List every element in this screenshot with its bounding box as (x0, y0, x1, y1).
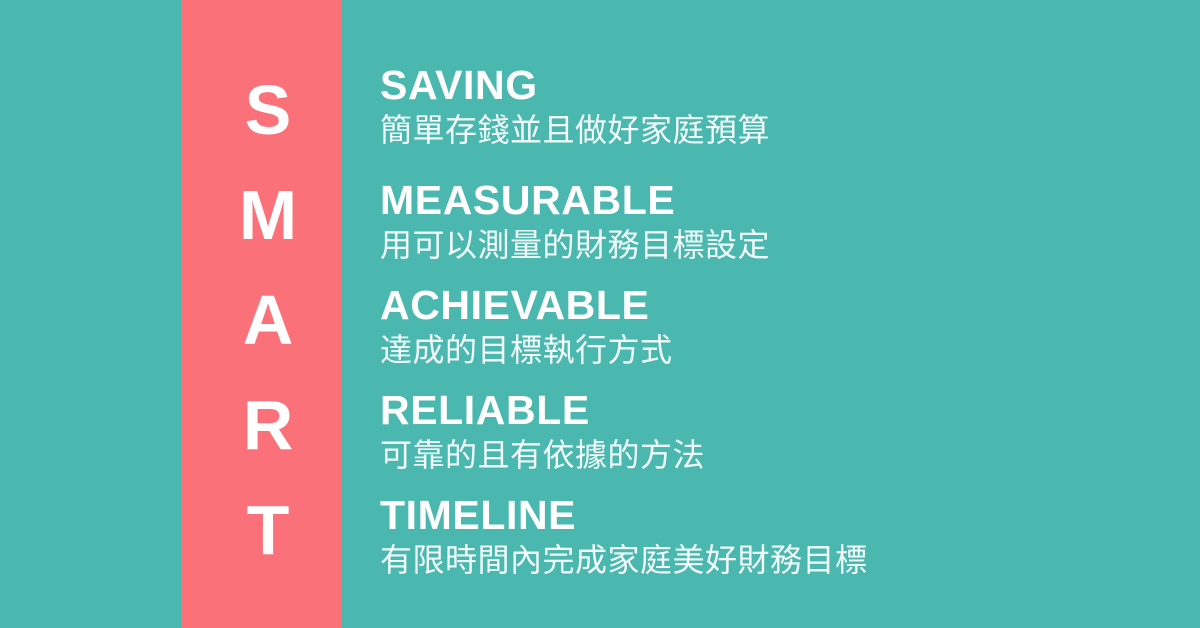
item-subtitle-measurable: 用可以測量的財務目標設定 (380, 223, 1200, 267)
item-block-timeline: TIMELINE 有限時間內完成家庭美好財務目標 (380, 492, 1200, 597)
acronym-band: S M A R T (181, 0, 342, 628)
acronym-letter-s: S (181, 58, 342, 163)
item-title-measurable: MEASURABLE (380, 177, 1200, 223)
smart-goals-poster: S M A R T SAVING 簡單存錢並且做好家庭預算 MEASURABLE… (0, 0, 1200, 628)
item-title-achievable: ACHIEVABLE (380, 282, 1200, 328)
item-subtitle-reliable: 可靠的且有依據的方法 (380, 433, 1200, 477)
item-subtitle-timeline: 有限時間內完成家庭美好財務目標 (380, 538, 1200, 582)
acronym-letter-a: A (181, 268, 342, 373)
item-subtitle-saving: 簡單存錢並且做好家庭預算 (380, 108, 1200, 152)
acronym-letter-r: R (181, 373, 342, 478)
acronym-letter-t: T (181, 478, 342, 583)
item-subtitle-achievable: 達成的目標執行方式 (380, 328, 1200, 372)
item-block-measurable: MEASURABLE 用可以測量的財務目標設定 (380, 177, 1200, 282)
item-title-reliable: RELIABLE (380, 387, 1200, 433)
item-title-timeline: TIMELINE (380, 492, 1200, 538)
acronym-letter-m: M (181, 163, 342, 268)
items-column: SAVING 簡單存錢並且做好家庭預算 MEASURABLE 用可以測量的財務目… (380, 0, 1200, 628)
item-block-saving: SAVING 簡單存錢並且做好家庭預算 (380, 62, 1200, 167)
item-block-achievable: ACHIEVABLE 達成的目標執行方式 (380, 282, 1200, 387)
item-block-reliable: RELIABLE 可靠的且有依據的方法 (380, 387, 1200, 492)
item-title-saving: SAVING (380, 62, 1200, 108)
